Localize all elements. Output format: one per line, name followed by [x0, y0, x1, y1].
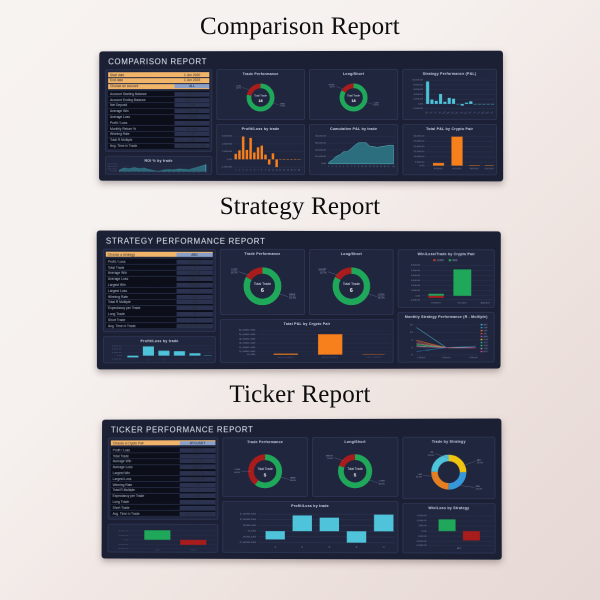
donut-svg: Total Trade 5 SHORT 20.0% LONG 80.0%	[313, 444, 397, 496]
bar-svg: 1,500.00 1,000.00 500.00 0.00 -500.00 -1…	[403, 510, 494, 552]
svg-text:5,000.00: 5,000.00	[415, 162, 426, 164]
bar-svg: 10,000.00 8,000.00 6,000.00 4,000.00 2,0…	[403, 76, 496, 119]
svg-text:80.0%: 80.0%	[379, 483, 385, 485]
svg-text:10,000.00: 10,000.00	[412, 80, 424, 82]
svg-text:WINS: WINS	[280, 103, 285, 105]
svg-text:VWX: VWX	[455, 111, 461, 115]
svg-text:2: 2	[301, 546, 304, 548]
table-row: Profit / Loss5,054.18	[106, 259, 213, 264]
metric-label: Avg. Time in Trade	[106, 324, 177, 328]
crypto-pair-select-value[interactable]: BTCUSDT	[180, 441, 216, 445]
trade-performance-donut: Total Trade 18 LOSS 22.2% WINS 77.8%	[217, 76, 304, 119]
total-pnl-pair-card: Total P&L by Crypto Pair 30,000.00	[402, 124, 497, 175]
table-row: Avg. Time in Trade2 days 3 hrs 7 mins	[108, 143, 209, 148]
strategy-select-value[interactable]: ABC	[177, 252, 213, 256]
svg-text:2,000.00: 2,000.00	[239, 347, 256, 349]
svg-text:12: 12	[276, 170, 278, 172]
table-row: Profit / Loss31,874.22	[108, 120, 209, 125]
svg-text:4: 4	[355, 546, 358, 548]
donut-svg: Total Trade 5 LOSS 40.0% WINS 60.0%	[223, 444, 307, 496]
svg-text:SOLUSDT: SOLUSDT	[485, 168, 494, 170]
svg-text:8: 8	[153, 172, 154, 173]
table-row: Expectancy per Trade0.35	[111, 494, 216, 499]
metric-label: Profit / Loss	[106, 260, 177, 264]
svg-text:4: 4	[134, 172, 135, 173]
svg-text:12: 12	[173, 172, 175, 173]
svg-text:2,000.00: 2,000.00	[413, 99, 424, 101]
svg-text:1,500.00: 1,500.00	[417, 516, 428, 518]
ticker-dashboard: TICKER PERFORMANCE REPORT Choose a Crypt…	[102, 418, 502, 559]
metric-label: Average Win	[106, 271, 177, 275]
metric-value: -855.31	[175, 115, 209, 119]
metric-value: 2 days 3 hrs 7 mins	[175, 144, 209, 148]
svg-text:PQR: PQR	[446, 111, 451, 115]
page-title-strategy: Strategy Report	[220, 194, 381, 219]
table-row: Avg. Time in Trade3 days 11 hrs 26 mins	[106, 323, 213, 328]
donut-svg: Total Trade 6 SHORT 16.7% LONG 83.3%	[310, 256, 393, 314]
svg-text:5: 5	[383, 546, 386, 548]
strategy-total-pnl-pair-chart: 6,000.00 5,000.00 4,000.00 3,000.00 2,00…	[221, 326, 393, 362]
svg-text:Total Trade: Total Trade	[257, 467, 273, 471]
svg-text:3: 3	[328, 546, 331, 548]
table-row: Average Win3,211.48	[108, 109, 209, 114]
svg-text:YZA: YZA	[484, 348, 489, 350]
area-svg: 40,000.00 30,000.00 20,000.00 10,000.00 …	[310, 131, 397, 174]
svg-text:TUV: TUV	[490, 111, 495, 114]
svg-text:500.00: 500.00	[419, 526, 428, 528]
svg-text:8: 8	[261, 170, 262, 172]
trade-by-strategy-card: Trade by Strategy JKL 25.0%	[402, 437, 495, 500]
strategy-select-row[interactable]: Choose a strategy ABC	[106, 252, 213, 257]
metric-label: Total Trade	[106, 265, 177, 269]
svg-text:0.00: 0.00	[123, 539, 128, 540]
svg-text:30,000.00: 30,000.00	[315, 143, 327, 145]
strategy-trade-performance-donut: Total Trade 6 LOSS 16.7% WINS 83.3%	[221, 256, 304, 314]
metric-label: Avg. Time in Trade	[108, 144, 175, 148]
svg-text:0.00: 0.00	[321, 163, 327, 165]
metric-value: 0.60	[180, 483, 216, 487]
table-row: Winning Rate0.83	[106, 294, 213, 299]
svg-text:15: 15	[410, 325, 414, 327]
strategy-pnl-card: Strategy Performance (P&L) 10,000.00	[402, 69, 497, 120]
svg-text:15: 15	[287, 170, 289, 172]
filter-label: Choose a strategy	[106, 252, 177, 256]
table-row: Average Loss-855.31	[108, 115, 209, 120]
svg-text:14: 14	[283, 170, 285, 172]
ticker-trade-performance-card: Trade Performance Total Trade 5 LOSS 40	[222, 437, 308, 497]
ticker-trade-performance-donut: Total Trade 5 LOSS 40.0% WINS 60.0%	[223, 444, 307, 496]
svg-text:0.00: 0.00	[247, 354, 256, 356]
svg-text:DEF: DEF	[429, 111, 433, 114]
metric-value: -482.71	[177, 289, 213, 293]
metric-value: 3,211.48	[175, 109, 209, 113]
donut-svg: Total Trade 6 LOSS 16.7% WINS 83.3%	[221, 256, 304, 314]
svg-text:16.7%: 16.7%	[320, 272, 327, 274]
table-row: Largest Win1,481.75	[111, 471, 216, 476]
svg-text:MNO: MNO	[484, 336, 489, 338]
svg-text:18: 18	[351, 99, 356, 103]
svg-text:7: 7	[149, 172, 150, 173]
svg-text:30,000.00: 30,000.00	[413, 136, 425, 138]
pnl-by-trade-card: Profit/Loss by trade 6,000.00 4	[216, 124, 305, 175]
metric-value: 1,481.75	[180, 471, 216, 475]
svg-text:0.00: 0.00	[227, 159, 233, 161]
table-row: Largest Loss-1,003.28	[111, 476, 216, 481]
metric-label: Expectancy per Trade	[111, 494, 180, 498]
svg-text:JKL: JKL	[430, 452, 435, 454]
metric-label: Avg. Time in Trade	[111, 511, 180, 515]
svg-text:6: 6	[261, 288, 264, 294]
metric-label: Winning Rate	[108, 132, 175, 136]
svg-text:10: 10	[268, 170, 270, 172]
table-row: Long Trade4	[111, 499, 216, 504]
svg-text:0.00: 0.00	[418, 104, 424, 106]
svg-text:10: 10	[163, 172, 165, 173]
svg-text:77.8%: 77.8%	[280, 106, 285, 108]
svg-text:1: 1	[274, 546, 277, 548]
svg-text:BCD: BCD	[484, 351, 489, 353]
svg-text:17: 17	[387, 166, 389, 168]
svg-text:20,000.00: 20,000.00	[413, 146, 425, 148]
svg-text:25.0%: 25.0%	[477, 462, 483, 464]
svg-text:3: 3	[243, 170, 244, 172]
bar-svg: 2,000.00 1,000.00 0.00 -1,000.00 -2,000.…	[108, 527, 217, 552]
metric-value: 18.41%	[175, 127, 209, 131]
svg-text:4,000.00: 4,000.00	[239, 338, 256, 340]
table-row: Total R Multiple0.9	[111, 488, 216, 493]
svg-text:7: 7	[351, 166, 352, 168]
roi-area-svg: 300.00% 200.00% 100.00% 0.00% 1234 5678 …	[106, 163, 211, 174]
svg-text:BTCUSDT: BTCUSDT	[322, 356, 339, 358]
svg-text:40.0%: 40.0%	[234, 472, 240, 474]
svg-text:5: 5	[354, 472, 357, 477]
svg-text:SHORT: SHORT	[326, 456, 334, 458]
svg-text:XRPUSDT: XRPUSDT	[470, 168, 479, 170]
svg-text:3: 3	[129, 172, 130, 173]
strategy-pnl-by-trade-card: Profit/Loss by trade 3,000.00 2,000.00	[103, 336, 216, 363]
svg-text:15: 15	[380, 166, 382, 168]
metric-label: Long Trade	[106, 312, 177, 316]
donut-svg: Total Trade 18 SHORT 16.7% LONG 83.3%	[310, 76, 397, 119]
table-row: Monthly Return %18.41%	[108, 126, 209, 131]
svg-text:8: 8	[354, 166, 355, 168]
svg-text:ABC: ABC	[424, 110, 430, 114]
svg-text:15,000.00: 15,000.00	[413, 151, 425, 153]
svg-text:16.7%: 16.7%	[330, 87, 335, 89]
svg-text:5,000.00: 5,000.00	[239, 334, 256, 336]
svg-text:4: 4	[246, 170, 247, 172]
svg-text:WINS: WINS	[290, 478, 296, 480]
ticker-pnl-by-trade-chart: 1,500.00 1,000.00 500.00 0.00 -500.00 -1…	[223, 508, 397, 552]
svg-text:-1,000.00: -1,000.00	[410, 299, 421, 301]
svg-text:20.0%: 20.0%	[327, 458, 333, 460]
svg-text:STU: STU	[484, 342, 489, 344]
table-row: Total R Multiple3.05	[106, 300, 213, 305]
svg-text:4: 4	[179, 360, 180, 361]
svg-text:1,000.00: 1,000.00	[112, 352, 122, 353]
svg-text:4,000.00: 4,000.00	[222, 143, 233, 145]
svg-text:-2,000.00: -2,000.00	[118, 548, 128, 549]
svg-text:5: 5	[411, 340, 413, 342]
table-row: Short Trade1	[106, 317, 213, 322]
metric-label: Largest Loss	[106, 289, 177, 293]
svg-text:14: 14	[183, 172, 185, 173]
account-select-value[interactable]: ALL	[175, 84, 209, 88]
svg-text:16: 16	[290, 170, 292, 172]
svg-text:4: 4	[339, 166, 340, 168]
metric-value: 2,802.05	[177, 283, 213, 287]
svg-text:WIN: WIN	[155, 550, 160, 551]
metric-label: Account Starting Balance	[108, 92, 175, 96]
crypto-pair-select-row[interactable]: Choose a Crypto Pair BTCUSDT	[111, 440, 216, 445]
svg-text:Total Trade: Total Trade	[343, 282, 360, 286]
svg-text:6: 6	[350, 288, 353, 294]
metric-label: Monthly Return %	[108, 127, 175, 131]
comparison-filters-and-metrics: Start date 1 Jun 2020 End date 1 Jun 202…	[105, 69, 212, 152]
svg-text:25,000.00: 25,000.00	[413, 141, 425, 143]
svg-text:1: 1	[119, 172, 120, 173]
svg-text:3 Month: 3 Month	[442, 357, 451, 359]
svg-text:JKL: JKL	[484, 333, 487, 335]
svg-text:JKL: JKL	[438, 111, 442, 114]
svg-text:5: 5	[194, 360, 195, 361]
svg-text:100.00%: 100.00%	[107, 169, 118, 170]
metric-value: 5,054.18	[177, 260, 213, 264]
svg-text:2: 2	[124, 172, 125, 173]
metric-value: 1,129.10	[180, 460, 216, 464]
metric-value: 0.78	[175, 132, 209, 136]
svg-text:8,000.00: 8,000.00	[413, 85, 424, 87]
svg-text:5: 5	[139, 172, 140, 173]
metric-value: 0.83	[177, 295, 213, 299]
metric-value: 1	[180, 506, 216, 510]
table-row: Account Starting Balance5,000.00	[108, 91, 209, 96]
svg-text:1: 1	[132, 360, 133, 361]
svg-text:-500.00: -500.00	[418, 536, 428, 538]
svg-text:13: 13	[372, 166, 374, 168]
table-row: Account Ending Balance36,874.22	[108, 97, 209, 102]
svg-text:Total Trade: Total Trade	[347, 94, 360, 98]
svg-text:3: 3	[336, 166, 337, 168]
svg-text:1,000.00: 1,000.00	[417, 521, 428, 523]
svg-text:NOP: NOP	[481, 111, 486, 114]
svg-text:LOSS: LOSS	[235, 469, 241, 471]
metric-label: Short Trade	[106, 318, 177, 322]
metric-label: Average Loss	[111, 465, 180, 469]
svg-text:ETHUSDT: ETHUSDT	[431, 303, 441, 305]
svg-text:6,000.00: 6,000.00	[413, 89, 424, 91]
svg-text:5: 5	[250, 170, 251, 172]
svg-text:2: 2	[332, 166, 333, 168]
metric-value: 0.9	[180, 488, 216, 492]
svg-text:LONG: LONG	[378, 295, 385, 297]
svg-text:-500.00: -500.00	[242, 536, 257, 538]
svg-text:LOSS: LOSS	[190, 550, 197, 551]
svg-text:22.2%: 22.2%	[236, 88, 241, 90]
metric-label: Average Win	[111, 460, 180, 464]
filter-label: Choose an account	[108, 84, 175, 88]
comparison-dashboard: COMPARISON REPORT Start date 1 Jun 2020 …	[99, 51, 503, 182]
table-row: Average Win1,129.10	[111, 459, 216, 464]
metric-value: 3.58	[175, 138, 209, 142]
table-row: Total R Multiple3.58	[108, 138, 209, 143]
svg-text:0.00%: 0.00%	[110, 171, 118, 172]
metric-value: 4	[180, 500, 216, 504]
metric-label: Largest Win	[106, 283, 177, 287]
svg-text:HIJ: HIJ	[473, 111, 477, 114]
table-row: Expectancy per Trade3.01	[106, 306, 213, 311]
svg-text:1,000.00: 1,000.00	[239, 519, 256, 521]
table-row: Profit / Loss1,804.51	[111, 447, 216, 452]
svg-text:BTCUSDT: BTCUSDT	[452, 168, 461, 170]
metric-label: Net Deposit	[108, 104, 175, 108]
svg-text:5: 5	[264, 472, 267, 477]
svg-text:2,000.00: 2,000.00	[222, 151, 233, 153]
filter-label: End date	[108, 78, 175, 82]
svg-text:3: 3	[163, 360, 164, 361]
svg-text:11: 11	[272, 170, 274, 172]
svg-text:25.0%: 25.0%	[416, 477, 422, 479]
table-row: Avg. Time in Trade2 days 19 hrs 34 mins	[111, 511, 216, 516]
svg-text:SHORT: SHORT	[329, 84, 335, 86]
svg-text:0.00: 0.00	[415, 295, 420, 297]
metric-label: Largest Win	[111, 471, 180, 475]
ticker-pnl-by-trade-card: Profit/Loss by trade 1,500.00 1,000.00	[222, 501, 398, 553]
svg-text:6 Month: 6 Month	[469, 357, 478, 359]
dashboard-title-ticker: TICKER PERFORMANCE REPORT	[108, 424, 495, 438]
table-row: Largest Loss-482.71	[106, 288, 213, 293]
svg-text:25.0%: 25.0%	[428, 455, 434, 457]
strategy-pnl-chart: 10,000.00 8,000.00 6,000.00 4,000.00 2,0…	[403, 76, 496, 119]
metric-value: 36,874.22	[175, 98, 209, 102]
filter-row[interactable]: End date 1 Jun 2023	[108, 78, 209, 83]
metric-label: Winning Rate	[106, 295, 177, 299]
svg-text:6: 6	[347, 166, 348, 168]
svg-text:ABC: ABC	[484, 324, 489, 326]
svg-text:-2,000.00: -2,000.00	[413, 108, 424, 110]
svg-text:200.00%: 200.00%	[107, 167, 118, 168]
table-row: Net Deposit0.00	[108, 103, 209, 108]
svg-text:1,500.00: 1,500.00	[240, 513, 257, 515]
svg-text:9: 9	[158, 172, 159, 173]
metric-value: -1,003.28	[180, 477, 216, 481]
metric-value: 0.00	[175, 104, 209, 108]
metric-value: 3 days 11 hrs 26 mins	[177, 324, 213, 328]
svg-text:2,000.00: 2,000.00	[112, 349, 122, 350]
svg-text:ABC: ABC	[477, 459, 482, 462]
svg-text:DEF: DEF	[484, 327, 489, 329]
table-row: Average Loss-588.25	[111, 465, 216, 470]
ticker-winloss-left-chart: 2,000.00 1,000.00 0.00 -1,000.00 -2,000.…	[108, 527, 217, 552]
svg-text:18: 18	[205, 172, 207, 173]
svg-text:Total Trade: Total Trade	[254, 282, 271, 286]
svg-text:-1,000.00: -1,000.00	[118, 544, 128, 545]
svg-text:16: 16	[384, 166, 386, 168]
metrics-table: Profit / Loss5,054.18 Total Trade6 Avera…	[106, 259, 213, 328]
svg-text:15: 15	[188, 172, 190, 173]
svg-text:VWX: VWX	[484, 345, 489, 347]
svg-text:-1,000.00: -1,000.00	[238, 541, 256, 543]
donut-svg: Total Trade 18 LOSS 22.2% WINS 77.8%	[217, 76, 304, 119]
roi-chart: 300.00% 200.00% 100.00% 0.00% 1234 5678 …	[106, 163, 211, 174]
svg-text:300.00%: 300.00%	[107, 164, 118, 165]
winloss-pair-card: Win/Loss/Trade by Crypto Pair LOSS WIN	[398, 249, 495, 308]
metric-value: 5	[180, 454, 216, 458]
svg-text:2,000.00: 2,000.00	[411, 285, 421, 287]
svg-text:ETHUSDT: ETHUSDT	[434, 168, 443, 170]
svg-text:5: 5	[343, 166, 344, 168]
dashboard-title-strategy: STRATEGY PERFORMANCE REPORT	[103, 236, 495, 250]
svg-text:5,000.00: 5,000.00	[411, 270, 421, 272]
svg-text:2,000.00: 2,000.00	[118, 530, 128, 531]
svg-text:QRS: QRS	[485, 111, 490, 114]
svg-text:0.00: 0.00	[117, 355, 122, 356]
svg-text:9: 9	[358, 166, 359, 168]
svg-text:1 Month: 1 Month	[417, 357, 426, 359]
svg-text:7: 7	[257, 170, 258, 172]
svg-text:10: 10	[361, 166, 363, 168]
account-select-row[interactable]: Choose an account ALL	[108, 84, 209, 89]
svg-text:6,000.00: 6,000.00	[222, 136, 233, 138]
svg-text:YZA: YZA	[459, 110, 465, 114]
svg-text:6,000.00: 6,000.00	[411, 265, 421, 267]
page-title-ticker: Ticker Report	[229, 382, 370, 407]
metric-label: Profit / Loss	[111, 448, 180, 452]
strategy-filters-and-metrics: Choose a strategy ABC Profit / Loss5,054…	[103, 249, 216, 332]
filter-row[interactable]: Start date 1 Jun 2020	[108, 72, 209, 77]
bar-svg: 1,500.00 1,000.00 500.00 0.00 -500.00 -1…	[223, 508, 397, 552]
filter-value[interactable]: 1 Jun 2023	[175, 78, 209, 82]
svg-text:17: 17	[198, 172, 200, 173]
metric-value: 1,804.51	[180, 448, 216, 452]
svg-text:6: 6	[207, 360, 208, 361]
svg-text:GHI: GHI	[418, 474, 422, 476]
svg-text:16: 16	[193, 172, 195, 173]
filter-value[interactable]: 1 Jun 2020	[175, 73, 209, 77]
svg-text:18: 18	[298, 170, 300, 172]
svg-text:SHORT: SHORT	[318, 270, 327, 272]
page-title-comparison: Comparison Report	[200, 14, 400, 39]
metric-label: Short Trade	[111, 506, 180, 510]
trade-by-strategy-donut: JKL 25.0% ABC 25.0% DEF 25.0% GHI 25.	[403, 444, 494, 499]
strategy-dashboard: STRATEGY PERFORMANCE REPORT Choose a str…	[97, 231, 501, 370]
metric-value: 1,291.88	[177, 271, 213, 275]
svg-text:6: 6	[144, 172, 145, 173]
section-strategy: Strategy Report STRATEGY PERFORMANCE REP…	[0, 181, 600, 369]
metrics-table: Account Starting Balance5,000.00 Account…	[108, 91, 209, 148]
svg-text:WINS: WINS	[289, 295, 296, 297]
cumulative-pnl-card: Cumulative P&L by trade 40,000.00	[309, 124, 398, 175]
svg-text:10: 10	[410, 332, 414, 334]
svg-text:LONG: LONG	[374, 102, 380, 104]
metric-label: Average Loss	[108, 115, 175, 119]
metric-value: 1	[177, 318, 213, 322]
svg-text:13: 13	[178, 172, 180, 173]
metric-value: -482.71	[177, 277, 213, 281]
svg-text:WIN: WIN	[452, 259, 457, 262]
metric-value: 31,874.22	[175, 121, 209, 125]
svg-text:0: 0	[411, 348, 413, 350]
bar-svg: 3,000.00 2,000.00 1,000.00 0.00 -1,000.0…	[104, 343, 215, 362]
dashboard-title-comparison: COMPARISON REPORT	[105, 56, 497, 70]
table-row: Winning Rate0.60	[111, 482, 216, 487]
svg-text:LOSS: LOSS	[236, 85, 241, 87]
bar-svg: 6,000.00 4,000.00 2,000.00 0.00 -2,000.0…	[217, 131, 304, 174]
ticker-winloss-strategy-card: Win/Loss by Strategy 1,500.00	[402, 503, 495, 553]
table-row: Largest Win2,802.05	[106, 282, 213, 287]
metric-label: Total Trade	[111, 454, 180, 458]
total-pnl-pair-chart: 30,000.00 25,000.00 20,000.00 15,000.00 …	[403, 131, 496, 174]
